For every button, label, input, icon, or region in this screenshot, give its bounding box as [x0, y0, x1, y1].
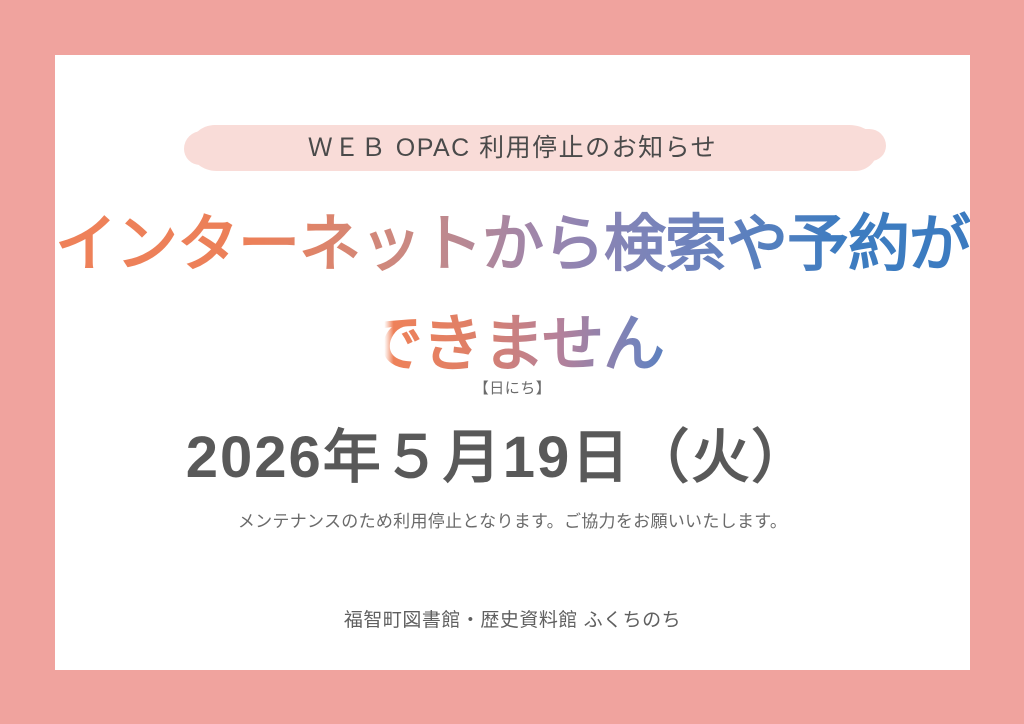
headline-line-2: できません [55, 293, 970, 383]
library-footer: 福智町図書館・歴史資料館 ふくちのち [55, 605, 970, 632]
poster-frame: ＷＥＢ OPAC 利用停止のお知らせ インターネットから検索や予約が できません… [0, 0, 1024, 724]
header-notice-band: ＷＥＢ OPAC 利用停止のお知らせ [55, 122, 970, 174]
date-value: 2026年５月19日（火） [55, 410, 970, 494]
maintenance-note: メンテナンスのため利用停止となります。ご協力をお願いいたします。 [55, 507, 970, 532]
headline-line-1: インターネットから検索や予約が [55, 193, 970, 283]
date-label: 【日にち】 [55, 377, 970, 398]
header-notice-text: ＷＥＢ OPAC 利用停止のお知らせ [55, 122, 970, 174]
poster-panel: ＷＥＢ OPAC 利用停止のお知らせ インターネットから検索や予約が できません… [55, 55, 970, 670]
